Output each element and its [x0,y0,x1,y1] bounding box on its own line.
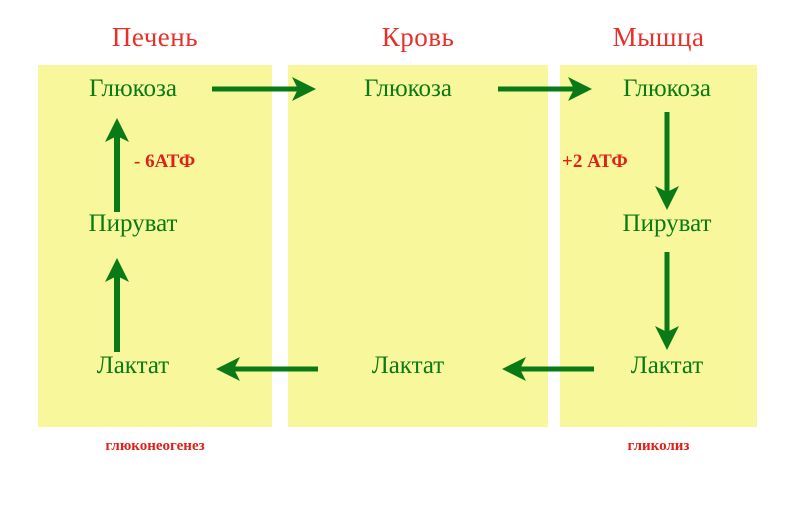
diagram-canvas: Печень Кровь Мышца Глюкоза Пируват Лакта… [0,0,797,512]
node-liver-lactate: Лактат [38,352,228,380]
arrow-liver-glucose-to-blood-glucose [212,72,318,106]
arrow-blood-lactate-to-liver-lactate [214,352,318,386]
node-muscle-glucose: Глюкоза [577,75,757,103]
footer-label-gluconeogenesis: глюконеогенез [38,437,272,455]
node-blood-glucose: Глюкоза [318,75,498,103]
node-liver-pyruvate: Пируват [38,210,228,238]
column-title-blood: Кровь [288,22,548,52]
atp-cost-label-liver: - 6АТФ [134,151,195,173]
arrow-muscle-lactate-to-blood-lactate [500,352,594,386]
node-muscle-lactate: Лактат [577,352,757,380]
arrow-blood-glucose-to-muscle-glucose [498,72,594,106]
column-title-liver: Печень [38,22,272,52]
node-liver-glucose: Глюкоза [38,75,228,103]
arrow-muscle-glucose-to-pyruvate [650,112,684,212]
arrow-liver-lactate-to-pyruvate [100,256,134,352]
atp-yield-label-muscle: +2 АТФ [562,151,628,173]
arrow-muscle-pyruvate-to-lactate [650,252,684,352]
node-muscle-pyruvate: Пируват [577,210,757,238]
column-title-muscle: Мышца [560,22,757,52]
footer-label-glycolysis: гликолиз [560,437,757,455]
node-blood-lactate: Лактат [318,352,498,380]
arrow-liver-pyruvate-to-glucose [100,116,134,212]
